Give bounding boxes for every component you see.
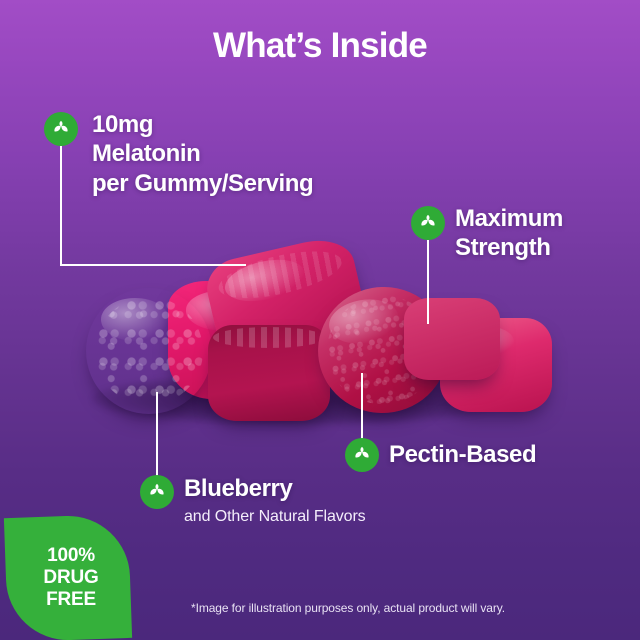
page-title: What’s Inside xyxy=(0,26,640,66)
leaf-icon-maximum-strength xyxy=(411,206,445,240)
callout-maximum-strength-headline: Maximum Strength xyxy=(455,204,640,263)
connector-maximum-strength xyxy=(427,240,429,324)
leaf-icon-melatonin xyxy=(44,112,78,146)
gummy-back-left xyxy=(168,281,314,399)
connector-blueberry xyxy=(156,392,158,476)
leaf-icon-blueberry xyxy=(140,475,174,509)
drug-free-badge-text: 100% DRUG FREE xyxy=(6,516,130,640)
callout-maximum-strength: Maximum Strength xyxy=(455,204,640,263)
callout-pectin-based-headline: Pectin-Based xyxy=(389,440,629,469)
product-infographic: What’s Inside xyxy=(0,0,640,640)
gummy-gloss xyxy=(186,290,265,330)
disclaimer-text: *Image for illustration purposes only, a… xyxy=(135,601,505,615)
gummy-gloss xyxy=(221,253,308,308)
callout-blueberry-subline: and Other Natural Flavors xyxy=(184,507,484,528)
gummy-front-center xyxy=(208,325,330,421)
drug-free-badge: 100% DRUG FREE xyxy=(6,516,130,640)
disclaimer-footnote: *Image for illustration purposes only, a… xyxy=(0,601,640,615)
callout-melatonin: 10mg Melatonin per Gummy/Serving xyxy=(92,110,422,198)
gummy-gloss xyxy=(453,326,513,358)
connector-melatonin-horizontal xyxy=(60,264,246,266)
gummy-right-textured xyxy=(308,277,458,424)
callout-pectin-based: Pectin-Based xyxy=(389,440,629,469)
gummy-face xyxy=(86,288,212,414)
callout-melatonin-headline: 10mg Melatonin per Gummy/Serving xyxy=(92,110,422,198)
gummy-face xyxy=(308,277,458,424)
gummy-right-side xyxy=(440,318,552,412)
gummy-gloss xyxy=(101,298,169,341)
leaf-icon-pectin-based xyxy=(345,438,379,472)
gummy-top-tilted xyxy=(201,233,372,376)
pile-ground-shadow xyxy=(92,372,512,426)
gummy-dimple-texture xyxy=(95,297,203,405)
connector-pectin-based xyxy=(361,373,363,439)
gummy-back-right xyxy=(404,298,500,380)
callout-blueberry: Blueberry and Other Natural Flavors xyxy=(184,474,484,528)
connector-melatonin-vertical xyxy=(60,146,62,266)
callout-blueberry-headline: Blueberry xyxy=(184,474,484,503)
gummy-gloss xyxy=(325,294,402,348)
gummy-front-left-textured xyxy=(86,288,212,414)
